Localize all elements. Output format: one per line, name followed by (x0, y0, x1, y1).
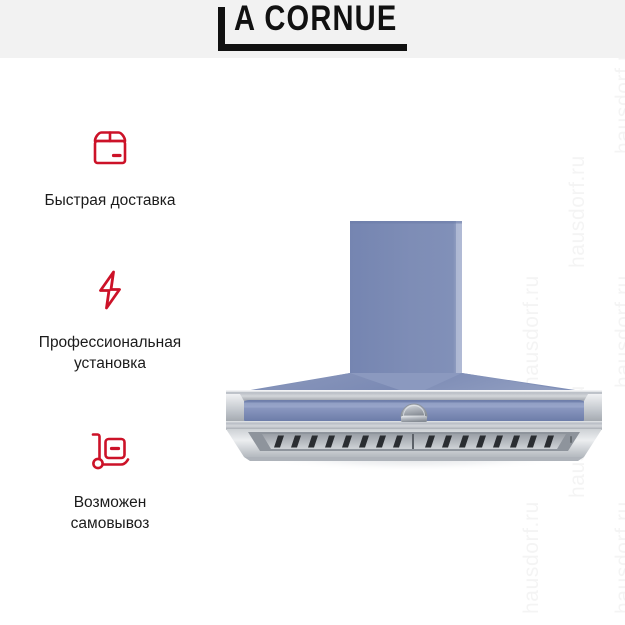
hood-chimney (350, 221, 462, 373)
hand-truck-icon (4, 422, 216, 478)
hood-filter-housing (226, 429, 602, 461)
brand-logo-frame: A CORNUE (218, 7, 407, 51)
feature-label-line: Возможен (4, 492, 216, 513)
watermark-text: hausdorf.ru (612, 275, 625, 388)
feature-label: Быстрая доставка (4, 190, 216, 211)
feature-item-installation: Профессиональная установка (4, 262, 216, 375)
feature-label-line: Быстрая доставка (4, 190, 216, 211)
feature-label-line: Профессиональная (4, 332, 216, 353)
feature-label-line: самовывоз (4, 513, 216, 534)
brand-logo-text: A CORNUE (234, 2, 401, 37)
feature-label: Профессиональная установка (4, 332, 216, 375)
header-bar: A CORNUE (0, 0, 625, 58)
watermark-text: hausdorf.ru (520, 501, 544, 614)
feature-item-delivery: Быстрая доставка (4, 120, 216, 211)
feature-item-pickup: Возможен самовывоз (4, 422, 216, 535)
feature-label-line: установка (4, 353, 216, 374)
watermark-text: hausdorf.ru (612, 501, 625, 614)
package-box-icon (4, 120, 216, 176)
watermark-text: hausdorf.ru (612, 58, 625, 154)
lightning-bolt-icon (4, 262, 216, 318)
product-image-range-hood (218, 205, 610, 480)
product-image-card: A CORNUE hausdorf.ru hausdorf.ru hausdor… (0, 0, 625, 625)
hood-trim-band (226, 390, 602, 430)
feature-label: Возможен самовывоз (4, 492, 216, 535)
brand-logo: A CORNUE (0, 0, 625, 58)
